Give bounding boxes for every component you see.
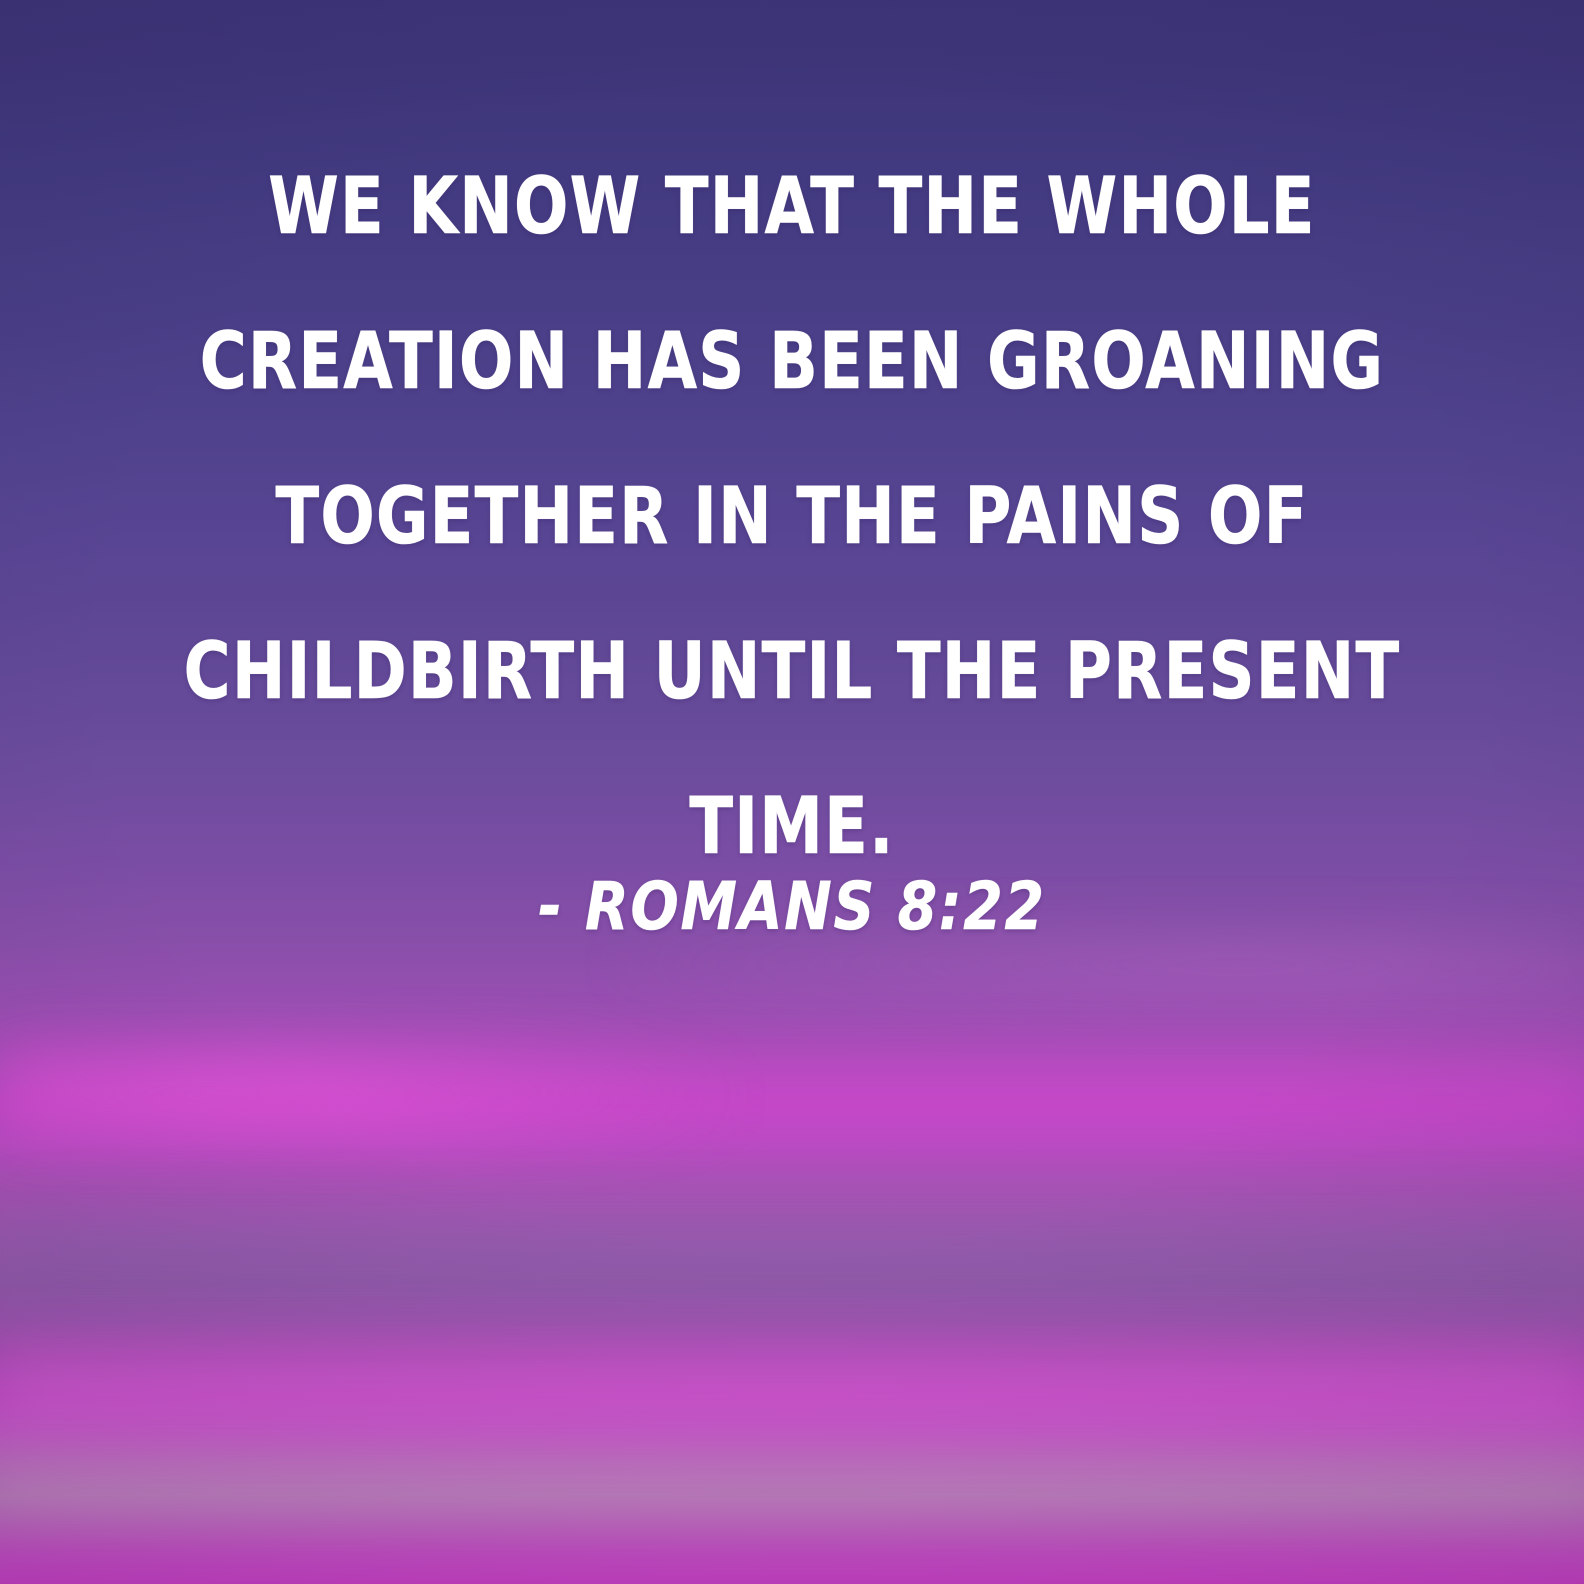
verse-reference-label: - ROMANS 8:22 [538,868,1045,945]
verse-text-block: WE KNOW THAT THE WHOLE CREATION HAS BEEN… [0,130,1584,905]
verse-line-1: WE KNOW THAT THE WHOLE [143,130,1442,285]
verse-line-3: TOGETHER IN THE PAINS OF [143,440,1442,595]
verse-image-canvas: WE KNOW THAT THE WHOLE CREATION HAS BEEN… [0,0,1584,1584]
verse-line-4: CHILDBIRTH UNTIL THE PRESENT [143,595,1442,750]
verse-line-2: CREATION HAS BEEN GROANING [143,285,1442,440]
verse-attribution: - ROMANS 8:22 [0,868,1584,945]
